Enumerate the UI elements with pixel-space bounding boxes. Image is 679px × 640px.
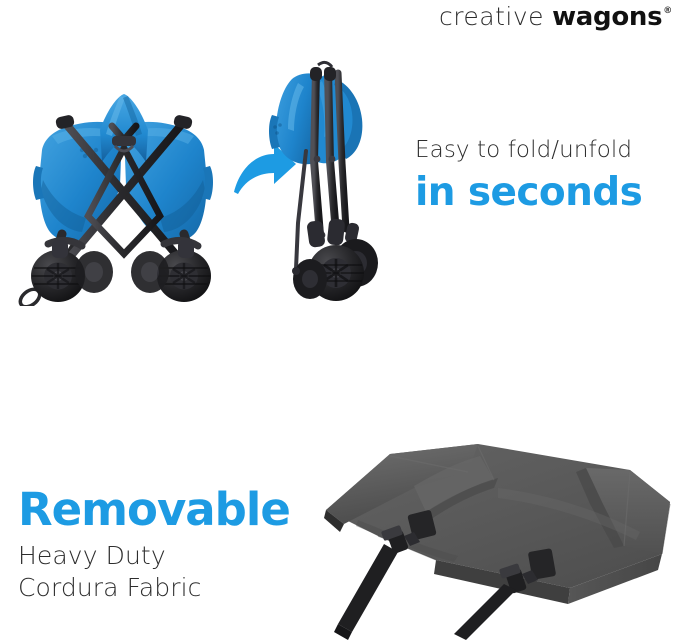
wagon-open-image bbox=[8, 58, 240, 306]
feature-subtitle-line-2: Cordura Fabric bbox=[18, 572, 338, 604]
headline-line-1: Easy to fold/unfold bbox=[415, 138, 679, 163]
brand-word-wagons: wagons® bbox=[552, 2, 671, 32]
product-infographic: creative wagons® bbox=[0, 0, 679, 640]
feature-subtitle: Heavy Duty Cordura Fabric bbox=[18, 540, 338, 604]
feature-text-block: Removable Heavy Duty Cordura Fabric bbox=[18, 487, 338, 604]
fabric-liner-image bbox=[318, 428, 679, 640]
feature-title: Removable bbox=[18, 487, 338, 532]
brand-logo: creative wagons® bbox=[439, 2, 671, 32]
wagon-folded-image bbox=[262, 55, 392, 307]
headline-line-2: in seconds bbox=[415, 171, 679, 216]
wagon-folded-wheel-small bbox=[293, 259, 327, 299]
brand-word-creative: creative bbox=[439, 2, 544, 31]
wagon-folded-handle-tip bbox=[292, 267, 300, 275]
trademark-symbol: ® bbox=[663, 6, 672, 16]
brand-wagons-text: wagons bbox=[552, 2, 662, 32]
headline-block: Easy to fold/unfold in seconds bbox=[415, 138, 679, 216]
wagon-wheel-rear-right bbox=[131, 251, 169, 293]
wagon-wheel-rear-left bbox=[75, 251, 113, 293]
feature-subtitle-line-1: Heavy Duty bbox=[18, 540, 338, 572]
